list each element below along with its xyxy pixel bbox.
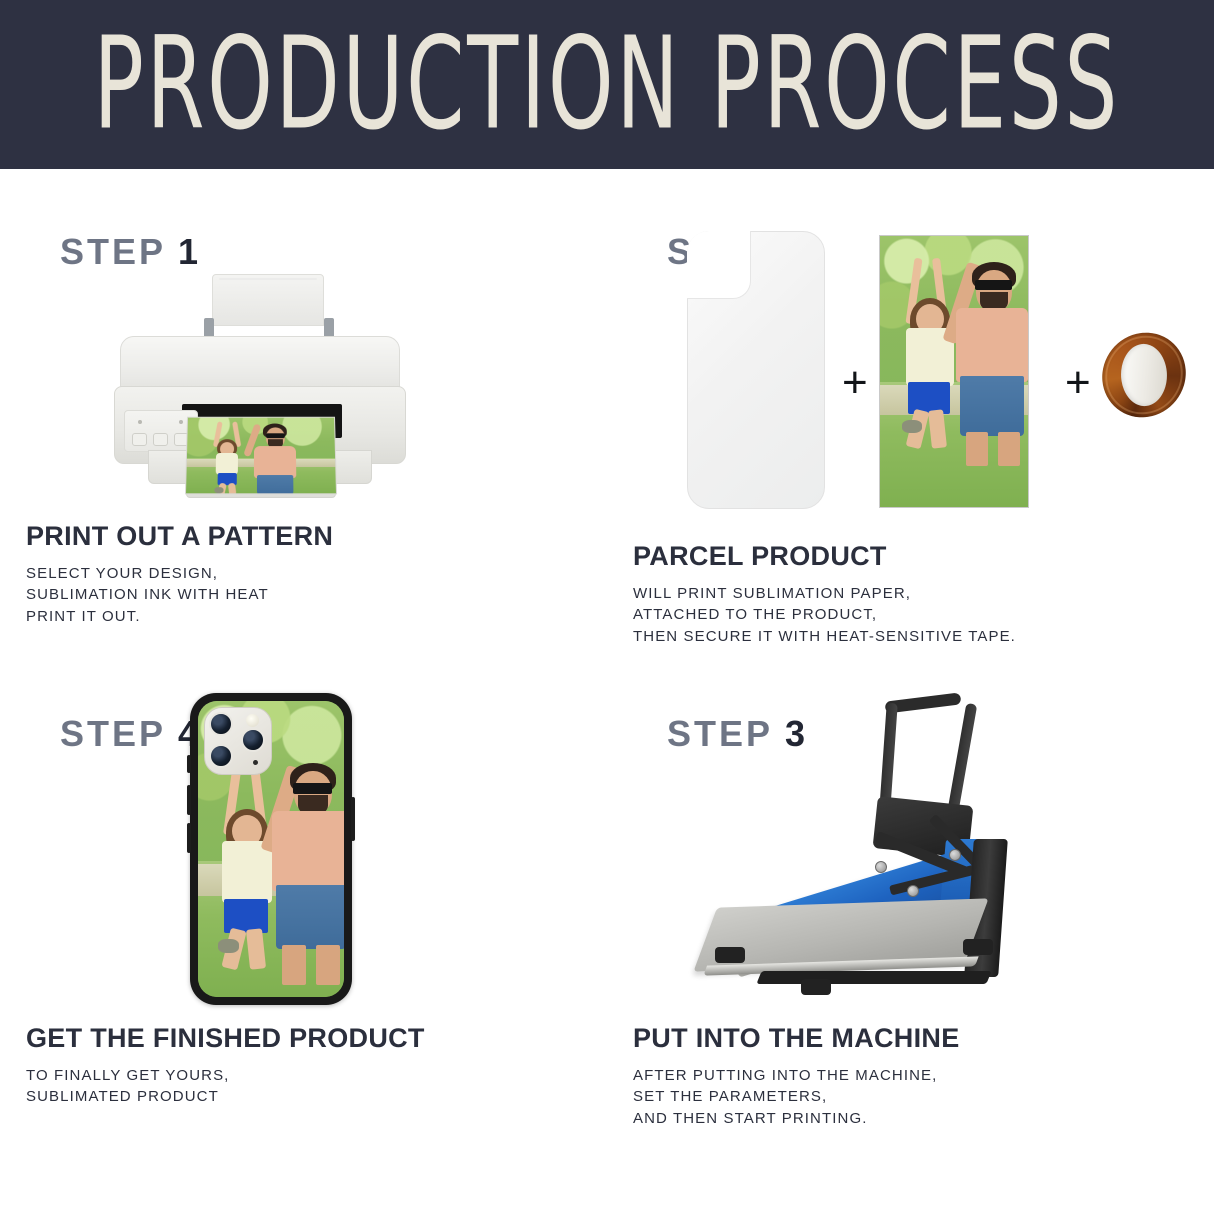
step-4-heading: GET THE FINISHED PRODUCT xyxy=(26,1023,425,1054)
step-3-heading: PUT INTO THE MACHINE xyxy=(633,1023,960,1054)
step-3-body-line-3: AND THEN START PRINTING. xyxy=(633,1108,960,1129)
press-foot-2 xyxy=(963,939,993,955)
step-3-text-block: PUT INTO THE MACHINE AFTER PUTTING INTO … xyxy=(633,1023,960,1129)
blank-case-camera-cutout xyxy=(687,231,751,299)
step-4-body-line-1: TO FINALLY GET YOURS, xyxy=(26,1065,425,1086)
phone-power-button xyxy=(351,797,355,841)
finished-product-illustration xyxy=(40,683,440,1023)
photo2-man-leg-right xyxy=(998,432,1020,466)
infographic-page: PRODUCTION PROCESS STEP1 xyxy=(0,0,1214,1214)
camera-microphone-icon xyxy=(253,760,258,765)
photo3-man-sunglasses xyxy=(293,783,332,794)
press-foot-1 xyxy=(715,947,745,963)
phone-volume-up-button xyxy=(187,785,191,815)
press-base-rail xyxy=(756,971,991,984)
step-label-1: STEP1 xyxy=(60,231,201,273)
photo3-girl-shoe xyxy=(218,939,239,953)
photo2-man-leg-left xyxy=(966,432,988,466)
printer-button-power xyxy=(132,433,147,446)
step-1-heading: PRINT OUT A PATTERN xyxy=(26,521,333,552)
photo3-man-tshirt xyxy=(272,811,344,891)
photo-girl-shoe xyxy=(214,487,223,493)
photo-man-shorts xyxy=(257,475,294,494)
step-2-text-block: PARCEL PRODUCT WILL PRINT SUBLIMATION PA… xyxy=(633,541,1016,647)
phone-volume-down-button xyxy=(187,823,191,853)
press-pivot-bolt-4 xyxy=(907,885,919,897)
heat-press-illustration xyxy=(707,689,1107,989)
camera-lens-ultrawide-icon xyxy=(209,744,233,768)
step-card-4: STEP4 xyxy=(0,671,607,1153)
step-2-body-line-2: ATTACHED TO THE PRODUCT, xyxy=(633,604,1016,625)
plus-operator-2: + xyxy=(1065,361,1091,405)
phone-mute-switch xyxy=(187,755,191,773)
step-3-body-line-2: SET THE PARAMETERS, xyxy=(633,1086,960,1107)
step-3-body-line-1: AFTER PUTTING INTO THE MACHINE, xyxy=(633,1065,960,1086)
blank-phone-case xyxy=(687,231,825,509)
step-word-1: STEP xyxy=(60,231,166,272)
step-card-2: STEP2 + xyxy=(607,189,1214,671)
camera-module-cutout xyxy=(204,707,272,775)
step-number-1: 1 xyxy=(178,231,201,272)
printed-photo-sheet xyxy=(185,417,337,495)
photo-man-sunglasses xyxy=(266,433,285,438)
photo3-man-shorts xyxy=(276,885,344,949)
finished-phone-case xyxy=(190,693,352,1005)
photo2-man-sunglasses xyxy=(975,280,1012,290)
printer-led-power-icon xyxy=(138,420,142,424)
printer-paper-feed-tray xyxy=(212,274,324,326)
page-title: PRODUCTION PROCESS xyxy=(94,21,1120,148)
photo2-girl-shoe xyxy=(902,420,922,433)
step-card-3: STEP3 xyxy=(607,671,1214,1153)
sublimation-photo-print xyxy=(879,235,1029,508)
camera-lens-telephoto-icon xyxy=(241,728,265,752)
parcel-illustration: + xyxy=(677,221,1197,531)
plus-operator-1: + xyxy=(842,361,868,405)
camera-lens-wide-icon xyxy=(209,712,233,736)
photo3-girl-top xyxy=(222,841,272,903)
press-handle-arm-left xyxy=(879,703,898,812)
step-2-body-line-1: WILL PRINT SUBLIMATION PAPER, xyxy=(633,583,1016,604)
page-header: PRODUCTION PROCESS xyxy=(0,0,1214,169)
finished-case-artwork xyxy=(198,701,344,997)
printer-illustration xyxy=(100,274,420,544)
press-handle-arm-right xyxy=(948,703,978,811)
photo2-man-shorts xyxy=(960,376,1024,436)
step-2-body-line-3: THEN SECURE IT WITH HEAT-SENSITIVE TAPE. xyxy=(633,626,1016,647)
press-foot-3 xyxy=(801,979,831,995)
step-4-body-line-2: SUBLIMATED PRODUCT xyxy=(26,1086,425,1107)
heat-resistant-tape-roll xyxy=(1099,327,1190,422)
step-card-1: STEP1 xyxy=(0,189,607,671)
printer-button-feed xyxy=(153,433,168,446)
photo3-man-leg-left xyxy=(282,945,306,985)
step-4-text-block: GET THE FINISHED PRODUCT TO FINALLY GET … xyxy=(26,1023,425,1108)
photo-girl-top xyxy=(216,453,238,475)
press-pivot-bolt-1 xyxy=(875,861,887,873)
press-pivot-bolt-2 xyxy=(949,849,961,861)
steps-grid: STEP1 xyxy=(0,169,1214,1214)
camera-flash-icon xyxy=(246,714,259,727)
step-1-body-line-2: SUBLIMATION INK WITH HEAT xyxy=(26,584,333,605)
step-1-text-block: PRINT OUT A PATTERN SELECT YOUR DESIGN, … xyxy=(26,521,333,627)
photo2-man-tshirt xyxy=(956,308,1028,382)
step-2-heading: PARCEL PRODUCT xyxy=(633,541,1016,572)
printer-led-ink-icon xyxy=(179,420,183,424)
photo-girl-leg-right xyxy=(228,483,237,495)
photo-man-tshirt xyxy=(254,446,296,478)
step-1-body-line-3: PRINT IT OUT. xyxy=(26,606,333,627)
photo3-man-leg-right xyxy=(316,945,340,985)
step-1-body-line-1: SELECT YOUR DESIGN, xyxy=(26,563,333,584)
